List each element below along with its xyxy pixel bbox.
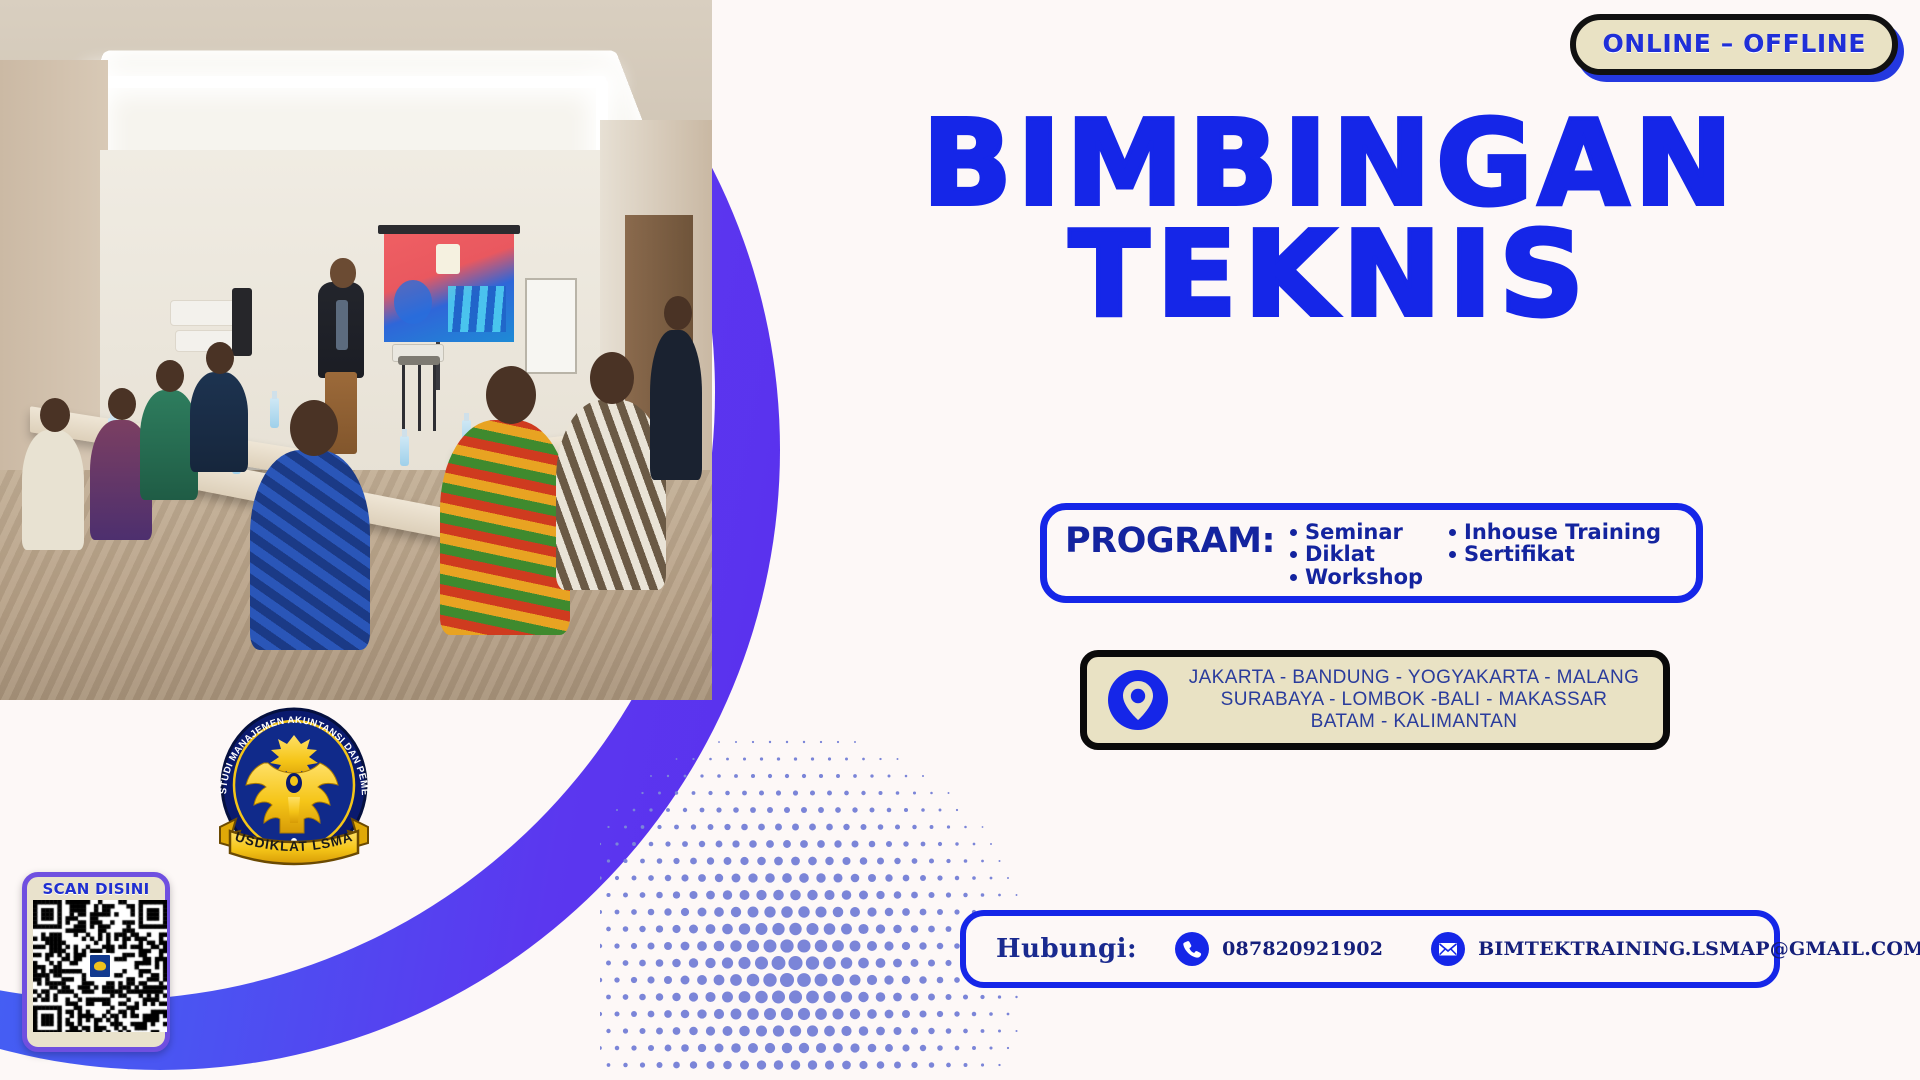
bullet-icon	[1290, 529, 1297, 536]
bullet-icon	[1290, 574, 1297, 581]
participant-foreground-1	[250, 450, 370, 650]
participant-4-head	[206, 342, 234, 374]
water-bottle-6	[270, 398, 279, 428]
participant-2-head	[108, 388, 136, 420]
bullet-icon	[1449, 529, 1456, 536]
screen-surface	[384, 234, 514, 342]
contact-label: Hubungi:	[996, 934, 1137, 964]
contact-email[interactable]: BIMTEKTRAINING.LSMAP@GMAIL.COM	[1431, 932, 1920, 966]
flipchart	[525, 278, 577, 374]
program-item: Workshop	[1288, 566, 1423, 588]
presenter-head	[330, 258, 356, 288]
program-item: Inhouse Training	[1447, 521, 1661, 543]
photo-square-bleed	[0, 0, 712, 700]
program-item-label: Diklat	[1305, 542, 1375, 566]
participant-1-head	[40, 398, 70, 432]
location-line: SURABAYA - LOMBOK -BALI - MAKASSAR	[1185, 689, 1643, 711]
locations-lines: JAKARTA - BANDUNG - YOGYAKARTA - MALANG …	[1185, 667, 1663, 734]
projector-screen	[378, 225, 520, 357]
participant-right-standing	[650, 330, 702, 480]
room-scene	[0, 0, 712, 700]
qr-card-title: SCAN DISINI	[33, 881, 159, 898]
stool-leg-3	[418, 365, 421, 431]
location-pin-icon	[1107, 669, 1169, 731]
program-box: PROGRAM: Seminar Diklat Workshop Inhouse…	[1040, 503, 1703, 603]
program-item-label: Sertifikat	[1464, 542, 1575, 566]
qr-center-logo-icon	[88, 953, 112, 979]
title-line-2: TEKNIS	[760, 219, 1900, 330]
location-line: JAKARTA - BANDUNG - YOGYAKARTA - MALANG	[1185, 667, 1643, 689]
participant-foreground-2-head	[486, 366, 536, 424]
program-item: Seminar	[1288, 521, 1423, 543]
email-address: BIMTEKTRAINING.LSMAP@GMAIL.COM	[1478, 938, 1920, 960]
participant-3-head	[156, 360, 184, 392]
ceiling-light-top	[96, 76, 606, 88]
participant-4	[190, 372, 248, 472]
program-item-label: Workshop	[1305, 565, 1423, 589]
participant-right-standing-head	[664, 296, 692, 330]
stool-top	[398, 356, 440, 365]
speaker-left	[232, 288, 252, 356]
slide-logo	[436, 244, 460, 274]
presenter-shirt	[336, 300, 348, 350]
slide-bars	[448, 286, 506, 332]
contact-box: Hubungi: 087820921902 BIMTEKTRAINING.LSM…	[960, 910, 1780, 988]
title-line-1: BIMBINGAN	[760, 108, 1900, 219]
qr-code-image[interactable]	[33, 900, 167, 1032]
participant-foreground-2	[440, 420, 570, 635]
organization-logo: LEMBAGA STUDI MANAJEMEN AKUNTANSI DAN PE…	[208, 705, 380, 870]
slide-circle	[394, 280, 432, 324]
program-item: Diklat	[1288, 543, 1423, 565]
location-line: BATAM - KALIMANTAN	[1185, 711, 1643, 733]
envelope-icon	[1431, 932, 1465, 966]
program-label: PROGRAM:	[1065, 524, 1275, 559]
bullet-icon	[1449, 551, 1456, 558]
program-item-label: Seminar	[1305, 520, 1403, 544]
online-offline-badge[interactable]: ONLINE – OFFLINE	[1570, 14, 1898, 75]
program-item-label: Inhouse Training	[1464, 520, 1661, 544]
contact-phone[interactable]: 087820921902	[1175, 932, 1383, 966]
page-title: BIMBINGAN TEKNIS	[760, 108, 1900, 330]
phone-number: 087820921902	[1222, 938, 1383, 960]
phone-icon	[1175, 932, 1209, 966]
qr-scan-card[interactable]: SCAN DISINI	[22, 872, 170, 1052]
stool-leg-1	[402, 365, 405, 431]
program-columns: Seminar Diklat Workshop Inhouse Training…	[1288, 521, 1661, 588]
stool	[398, 356, 440, 432]
bullet-icon	[1290, 551, 1297, 558]
participant-foreground-1-head	[290, 400, 338, 456]
poster-canvas: SCAN DISINI LEMBAGA STUDI MANAJEMEN AKUN…	[0, 0, 1920, 1080]
locations-box: JAKARTA - BANDUNG - YOGYAKARTA - MALANG …	[1080, 650, 1670, 750]
screen-top-bar	[378, 225, 520, 234]
program-column-left: Seminar Diklat Workshop	[1288, 521, 1423, 588]
program-item: Sertifikat	[1447, 543, 1661, 565]
stool-leg-2	[433, 365, 436, 431]
participant-1	[22, 430, 84, 550]
participant-foreground-3-head	[590, 352, 634, 404]
program-column-right: Inhouse Training Sertifikat	[1447, 521, 1661, 588]
water-bottle-4	[400, 436, 409, 466]
